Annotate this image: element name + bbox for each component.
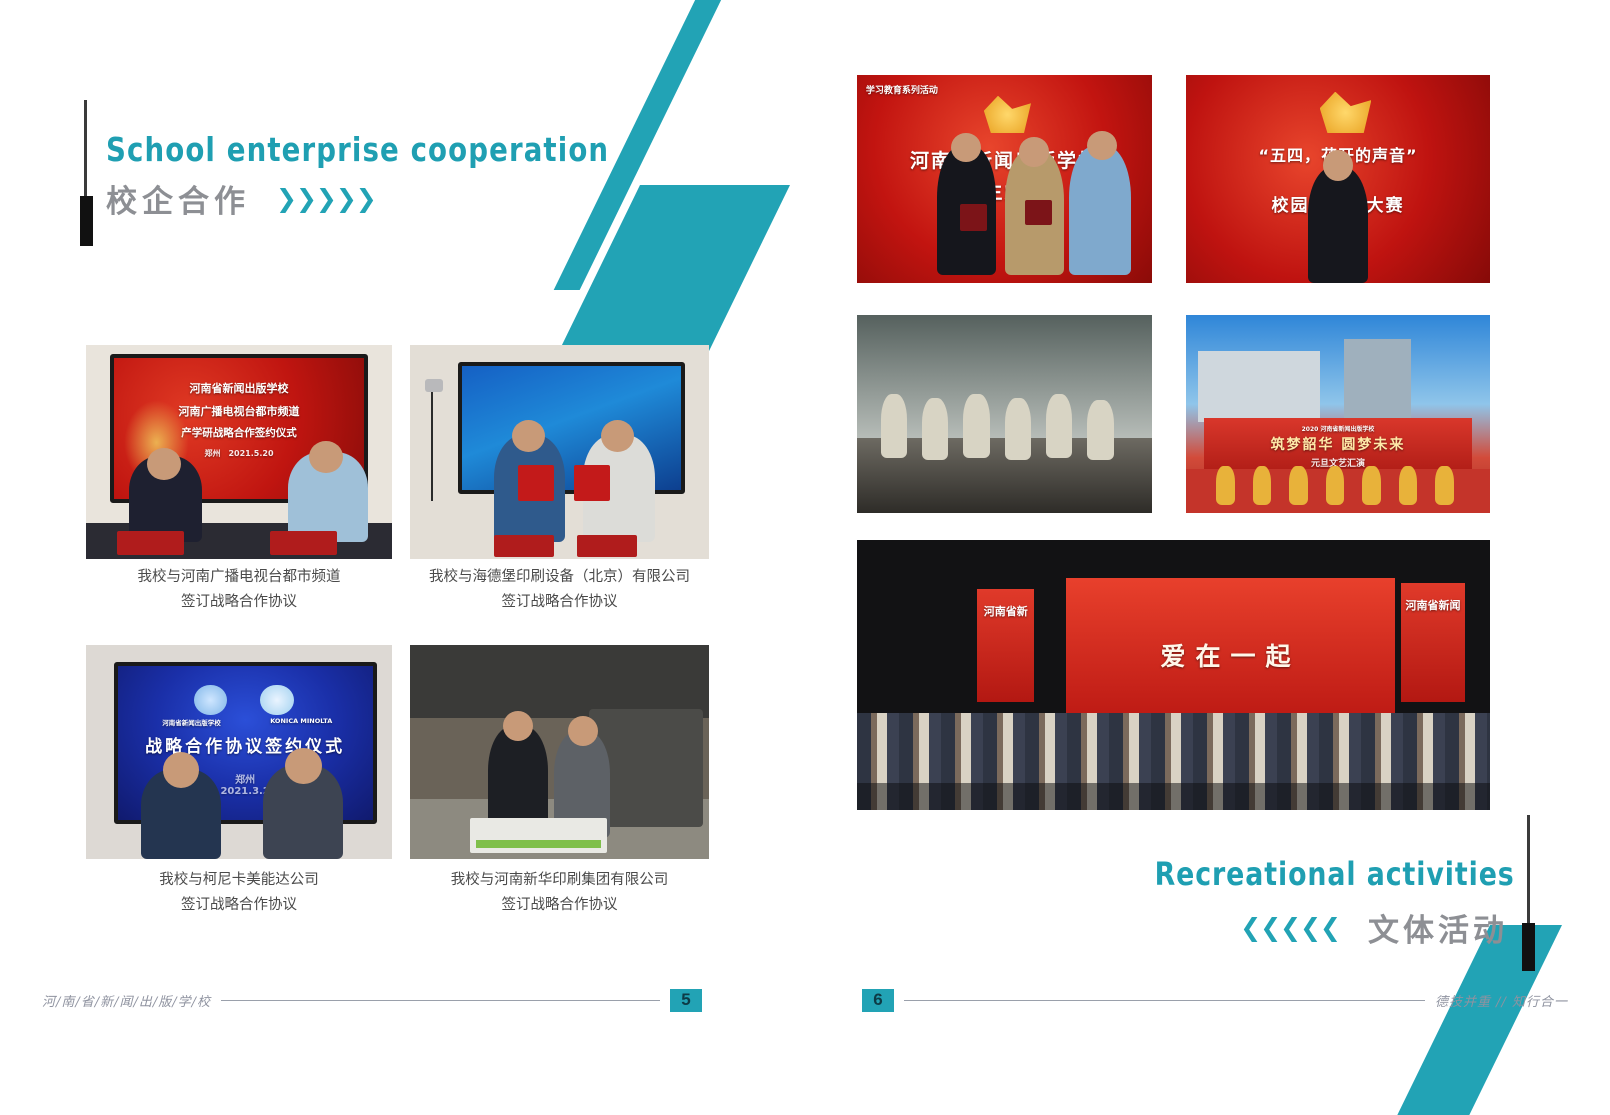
- caption-line-1: 我校与河南新华印刷集团有限公司: [410, 868, 709, 893]
- left-page-footer: 河/南/省/新/闻/出/版/学/校 5: [42, 988, 702, 1012]
- left-heading-chinese: 校企合作: [106, 176, 250, 221]
- footer-motto: 德技并重 // 知行合一: [1435, 991, 1568, 1010]
- footer-divider-line: [221, 1000, 660, 1001]
- right-heading-english: Recreational activities: [1155, 855, 1508, 893]
- caption-line-2: 签订战略合作协议: [86, 893, 392, 918]
- photo-speech-contest: “五四，花开的声音” 校园演讲人大赛: [1186, 75, 1490, 283]
- caption-xinhua-printing: 我校与河南新华印刷集团有限公司 签订战略合作协议: [410, 868, 709, 918]
- right-heading-chinese: 文体活动: [1368, 905, 1508, 950]
- photo-outdoor-performance: 2020 河南省新闻出版学校 筑梦韶华 圆梦未来 元旦文艺汇演: [1186, 315, 1490, 513]
- caption-tv-station: 我校与河南广播电视台都市频道 签订战略合作协议: [86, 565, 392, 615]
- left-heading-english: School enterprise cooperation: [106, 130, 609, 169]
- decorative-diagonal-stripe-bottom-right: [1397, 925, 1562, 1115]
- brochure-spread: School enterprise cooperation 校企合作 ❯❯❯❯❯…: [0, 0, 1610, 1100]
- footer-school-name: 河/南/省/新/闻/出/版/学/校: [42, 991, 211, 1010]
- heading-rule-block: [80, 196, 93, 246]
- caption-line-2: 签订战略合作协议: [86, 590, 392, 615]
- caption-line-1: 我校与河南广播电视台都市频道: [86, 565, 392, 590]
- photo-heidelberg-signing: [410, 345, 709, 559]
- heading-rule-line: [1527, 815, 1530, 923]
- photo-group-gala: 河南省新 爱在一起 河南省新闻: [857, 540, 1490, 810]
- chevron-left-icon: ❮❮❮❮❮: [1240, 913, 1340, 943]
- right-heading-chinese-row: ❮❮❮❮❮ 文体活动: [1128, 905, 1508, 950]
- page-number-badge: 6: [862, 989, 894, 1012]
- caption-line-2: 签订战略合作协议: [410, 893, 709, 918]
- right-page-footer: 6 德技并重 // 知行合一: [862, 988, 1568, 1012]
- photo-konica-minolta-signing: 河南省新闻出版学校 KONICA MINOLTA 战略合作协议签约仪式 郑州 2…: [86, 645, 392, 859]
- caption-line-1: 我校与海德堡印刷设备（北京）有限公司: [410, 565, 709, 590]
- left-heading-chinese-row: 校企合作 ❯❯❯❯❯: [106, 176, 376, 221]
- page-number-badge: 5: [670, 989, 702, 1012]
- photo-stage-dance: [857, 315, 1152, 513]
- right-page-heading: Recreational activities ❮❮❮❮❮ 文体活动: [1128, 855, 1508, 950]
- footer-divider-line: [904, 1000, 1425, 1001]
- photo-party-education-award: 学习教育系列活动 河南省新闻出版学校 师生党员: [857, 75, 1152, 283]
- caption-line-2: 签订战略合作协议: [410, 590, 709, 615]
- caption-line-1: 我校与柯尼卡美能达公司: [86, 868, 392, 893]
- caption-heidelberg: 我校与海德堡印刷设备（北京）有限公司 签订战略合作协议: [410, 565, 709, 615]
- heading-rule-line: [84, 100, 87, 196]
- backdrop-text-line1: 学习教育系列活动: [857, 83, 1152, 96]
- chevron-right-icon: ❯❯❯❯❯: [276, 184, 376, 214]
- photo-xinhua-printing-factory: PRIMA: [410, 645, 709, 859]
- caption-konica-minolta: 我校与柯尼卡美能达公司 签订战略合作协议: [86, 868, 392, 918]
- heading-rule-block: [1522, 923, 1535, 971]
- photo-tv-station-signing: 河南省新闻出版学校 河南广播电视台都市频道 产学研战略合作签约仪式 郑州 202…: [86, 345, 392, 559]
